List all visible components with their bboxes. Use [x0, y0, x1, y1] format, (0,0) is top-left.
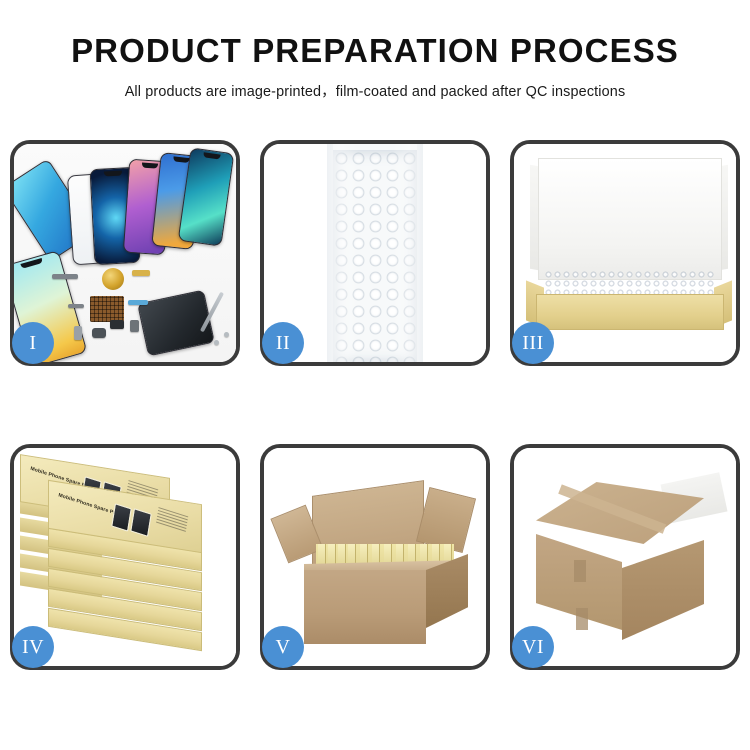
ic-chip-icon: [110, 320, 124, 329]
product-preparation-infographic: PRODUCT PREPARATION PROCESS All products…: [0, 0, 750, 750]
box-spec-lines: [156, 507, 188, 534]
sealed-carton-side: [622, 540, 704, 640]
flex-cable-icon: [52, 274, 78, 279]
camera-module-icon: [92, 328, 106, 338]
packing-tape-seam-upper: [574, 560, 586, 582]
page-subtitle: All products are image-printed，film-coat…: [0, 80, 750, 101]
speaker-mesh-icon: [90, 296, 124, 322]
process-step-panel-2: II: [260, 140, 490, 366]
process-step-panel-4: Mobile Phone Spare Parts Mobile Phone Sp…: [10, 444, 240, 670]
process-step-panel-6: VI: [510, 444, 740, 670]
ribbon-cable-icon: [128, 300, 148, 305]
bubble-wrapped-contents: [544, 270, 714, 296]
step-badge-3: III: [512, 322, 554, 364]
notch-icon: [20, 258, 43, 269]
battery-icon: [130, 320, 139, 332]
header: PRODUCT PREPARATION PROCESS All products…: [0, 0, 750, 101]
box-lid: [538, 158, 722, 280]
process-step-panel-5: V: [260, 444, 490, 670]
box-screen-graphic: [111, 503, 132, 531]
packing-tape-seam-lower: [576, 608, 588, 630]
notch-icon: [142, 163, 158, 169]
bracket-icon: [68, 304, 84, 308]
process-step-panel-1: I: [10, 140, 240, 366]
carton-front-panel: [304, 570, 426, 644]
step-badge-1: I: [12, 322, 54, 364]
copper-coil-icon: [102, 268, 124, 290]
step-badge-6: VI: [512, 626, 554, 668]
notch-icon: [203, 152, 220, 159]
step-badge-2: II: [262, 322, 304, 364]
step-badge-5: V: [262, 626, 304, 668]
screw-icon: [214, 340, 219, 345]
bubble-wrap-sheen: [333, 144, 417, 362]
notch-icon: [173, 156, 189, 163]
screw-icon: [224, 332, 229, 337]
notch-icon: [104, 171, 122, 177]
box-screen-graphic: [130, 508, 152, 537]
page-title: PRODUCT PREPARATION PROCESS: [0, 34, 750, 69]
process-step-grid: I II: [10, 140, 740, 670]
process-step-panel-3: III: [510, 140, 740, 366]
vibrator-icon: [74, 326, 82, 340]
box-front-panel: [536, 294, 724, 330]
connector-icon: [132, 270, 150, 276]
step-badge-4: IV: [12, 626, 54, 668]
